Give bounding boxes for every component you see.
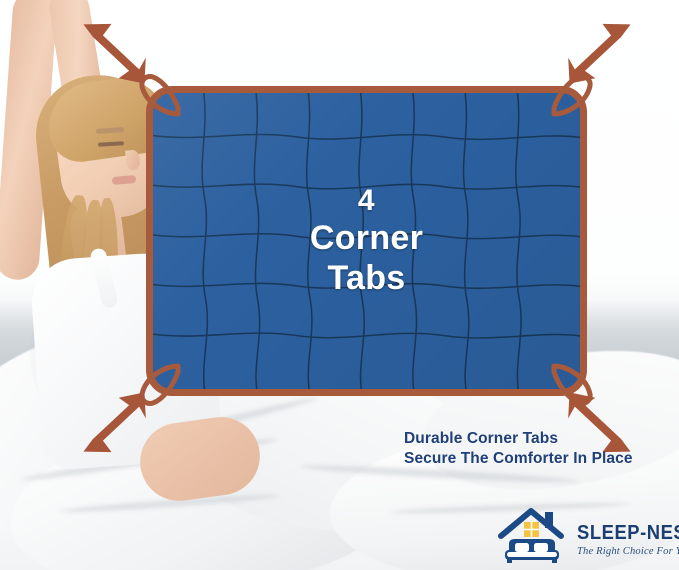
pointer-arrow-top-left-icon xyxy=(80,22,148,84)
house-bed-logo-icon xyxy=(497,506,571,564)
comforter-body xyxy=(146,86,587,396)
brand-name: SLEEP-NEST xyxy=(577,522,679,545)
brand-tagline: The Right Choice For You xyxy=(577,546,679,557)
feature-caption: Durable Corner Tabs Secure The Comforter… xyxy=(404,429,633,469)
pointer-arrow-bottom-left-icon xyxy=(80,392,148,454)
caption-line-1: Durable Corner Tabs xyxy=(404,429,633,449)
pointer-arrow-top-right-icon xyxy=(566,22,634,84)
caption-line-2: Secure The Comforter In Place xyxy=(404,449,633,469)
comforter-product xyxy=(146,86,587,396)
product-image-scene: 4 Corner Tabs Durable Corner Tabs Secure… xyxy=(0,0,679,570)
brand-logo: SLEEP-NEST The Right Choice For You xyxy=(497,504,672,566)
quilt-stitch-grid xyxy=(153,93,580,389)
brand-logo-text: SLEEP-NEST The Right Choice For You xyxy=(577,514,679,557)
